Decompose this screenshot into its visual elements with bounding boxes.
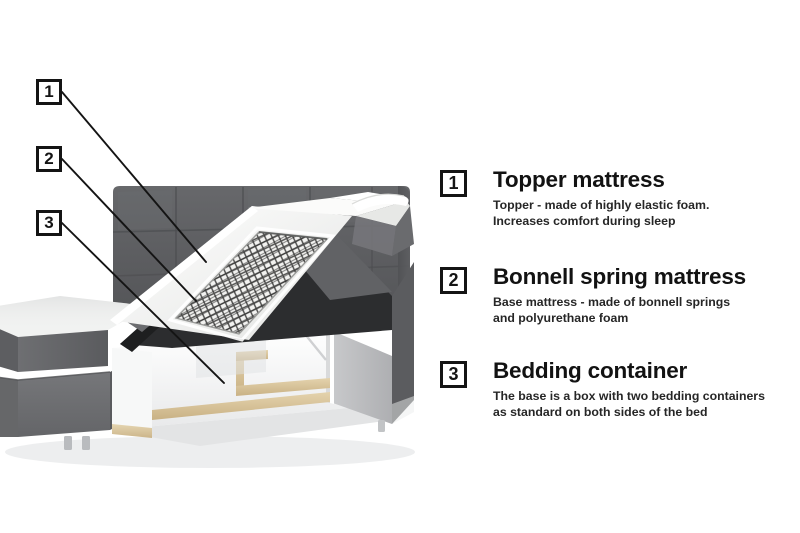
legend-panel: 1 Topper mattress Topper - made of highl… — [440, 0, 800, 533]
legend-item-bedding-container: 3 Bedding container The base is a box wi… — [440, 358, 800, 420]
bed-illustration: 1 2 3 — [0, 0, 440, 533]
legend-desc-2-line1: Base mattress - made of bonnell springs — [493, 295, 800, 311]
legend-body-3: Bedding container The base is a box with… — [493, 358, 800, 420]
legend-body-1: Topper mattress Topper - made of highly … — [493, 167, 800, 229]
legend-desc-3-line1: The base is a box with two bedding conta… — [493, 389, 800, 405]
legend-title-2: Bonnell spring mattress — [493, 264, 800, 290]
callout-badge-1: 1 — [36, 79, 62, 105]
legend-number-2: 2 — [440, 267, 467, 294]
legend-desc-3-line2: as standard on both sides of the bed — [493, 405, 800, 421]
legend-desc-2-line2: and polyurethane foam — [493, 311, 800, 327]
legend-number-3: 3 — [440, 361, 467, 388]
callout-badge-3: 3 — [36, 210, 62, 236]
legend-desc-1-line2: Increases comfort during sleep — [493, 214, 800, 230]
legend-desc-3: The base is a box with two bedding conta… — [493, 389, 800, 420]
legend-body-2: Bonnell spring mattress Base mattress - … — [493, 264, 800, 326]
legend-item-topper-mattress: 1 Topper mattress Topper - made of highl… — [440, 167, 800, 229]
bed-cutaway-graphic — [0, 0, 440, 533]
callout-badge-3-label: 3 — [39, 213, 59, 233]
legend-number-1: 1 — [440, 170, 467, 197]
diagram-canvas: 1 2 3 1 Topper mattress Topper - made of… — [0, 0, 800, 533]
legend-desc-1: Topper - made of highly elastic foam. In… — [493, 198, 800, 229]
callout-badge-2: 2 — [36, 146, 62, 172]
callout-badge-2-label: 2 — [39, 149, 59, 169]
legend-item-bonnell-spring-mattress: 2 Bonnell spring mattress Base mattress … — [440, 264, 800, 326]
callout-badge-1-label: 1 — [39, 82, 59, 102]
legend-title-1: Topper mattress — [493, 167, 800, 193]
legend-desc-2: Base mattress - made of bonnell springs … — [493, 295, 800, 326]
legend-desc-1-line1: Topper - made of highly elastic foam. — [493, 198, 800, 214]
legend-title-3: Bedding container — [493, 358, 800, 384]
